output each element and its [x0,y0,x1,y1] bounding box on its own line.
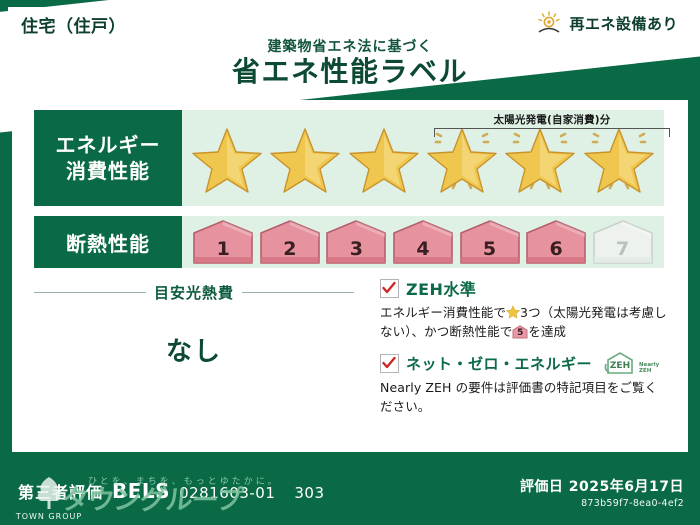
house-icon: 4 [392,219,454,265]
zeh-netzero-title: ネット・ゼロ・エネルギー [406,353,592,374]
renewable-equipment-badge: 再エネ設備あり [527,6,690,40]
house-rating-number: 5 [459,238,521,260]
title-main: 省エネ性能ラベル [0,57,700,86]
house-rating-number: 4 [392,238,454,260]
label-footer: 第三者評価 BELS 0281603-01 303 評価日 2025年6月17日… [0,463,700,525]
zeh-house-badge: ZEH Nearly ZEH [603,351,659,375]
footer-right-group: 評価日 2025年6月17日 873b59f7-8ea0-4ef2 [520,476,684,509]
star-icon [190,122,264,194]
house-icon-inline-number: 5 [512,325,528,339]
bels-label: BELS [112,479,170,503]
zeh-badge-note-line2: ZEH [639,368,651,374]
heading-rule-left [34,292,146,293]
house-rating-number: 3 [325,238,387,260]
svg-text:ZEH: ZEH [610,361,630,371]
star-icon [582,122,656,194]
label-title-block: 建築物省エネ法に基づく 省エネ性能ラベル [0,36,700,86]
house-icon: 7 [592,219,654,265]
house-icon-inline: 5 [512,325,528,339]
utility-cost-heading-label: 目安光熱費 [154,282,234,303]
energy-label-root: 住宅（住戸） 再エネ設備あり 建築物省エネ法に基づく 省エネ性能ラベル [0,0,700,525]
zeh-item-standard: ZEH水準 エネルギー消費性能で 3つ（太陽光発電は考慮しない）、かつ断熱性能で… [380,276,668,341]
utility-cost-block: 目安光熱費 なし [34,282,354,368]
insulation-performance-row: 断熱性能 1 2 3 4 5 6 7 [34,216,664,268]
energy-label-line2: 消費性能 [66,158,150,184]
zeh-body-pre: エネルギー消費性能で [380,305,506,320]
footer-left-group: 第三者評価 BELS 0281603-01 303 [18,479,325,503]
sun-icon [536,11,562,35]
zeh-badge-icon: ZEH [603,351,637,375]
energy-label-line1: エネルギー [56,132,161,158]
third-party-label: 第三者評価 [18,479,103,503]
insulation-performance-label: 断熱性能 [34,216,182,268]
house-icon: 2 [259,219,321,265]
zeh-netzero-body: Nearly ZEH の要件は評価書の特記項目をご覧ください。 [380,378,668,416]
heading-rule-right [242,292,354,293]
label-number-secondary: 303 [294,484,324,502]
zeh-block: ZEH水準 エネルギー消費性能で 3つ（太陽光発電は考慮しない）、かつ断熱性能で… [380,276,668,426]
utility-cost-heading: 目安光熱費 [34,282,354,303]
star-icon [268,122,342,194]
label-number: 0281603-01 [179,484,275,502]
house-rating-number: 7 [592,238,654,260]
checkbox-zeh-standard[interactable] [380,279,399,298]
evaluation-date: 評価日 2025年6月17日 [520,476,684,496]
checkbox-zeh-netzero[interactable] [380,354,399,373]
star-rating-area: 太陽光発電(自家消費)分 [182,110,664,206]
zeh-standard-head: ZEH水準 [380,276,668,300]
house-rating-number: 1 [192,238,254,260]
star-icon [503,122,577,194]
evaluation-hash: 873b59f7-8ea0-4ef2 [520,498,684,509]
zeh-standard-body: エネルギー消費性能で 3つ（太陽光発電は考慮しない）、かつ断熱性能で 5 を達成 [380,303,668,341]
renewable-badge-label: 再エネ設備あり [569,13,678,34]
house-rating-area: 1 2 3 4 5 6 7 [182,216,664,268]
house-icon: 6 [525,219,587,265]
building-type-tag: 住宅（住戸） [8,7,139,43]
zeh-badge-note: Nearly ZEH [639,363,659,375]
zeh-standard-title: ZEH水準 [406,276,476,300]
house-icon: 3 [325,219,387,265]
house-icon: 5 [459,219,521,265]
energy-performance-label: エネルギー 消費性能 [34,110,182,206]
utility-cost-value: なし [34,331,354,368]
check-icon [382,281,396,295]
star-icon [425,122,499,194]
house-icon: 1 [192,219,254,265]
label-content-panel: エネルギー 消費性能 太陽光発電(自家消費)分 [12,100,688,452]
zeh-body-post: を達成 [528,324,566,339]
star-icon [347,122,421,194]
star-icon-inline [506,305,520,319]
check-icon [382,356,396,370]
energy-performance-row: エネルギー 消費性能 太陽光発電(自家消費)分 [34,110,664,206]
house-rating-number: 2 [259,238,321,260]
zeh-netzero-head: ネット・ゼロ・エネルギー ZEH Nearly ZEH [380,351,668,375]
house-rating-number: 6 [525,238,587,260]
zeh-item-netzero: ネット・ゼロ・エネルギー ZEH Nearly ZEH Nearly ZE [380,351,668,416]
